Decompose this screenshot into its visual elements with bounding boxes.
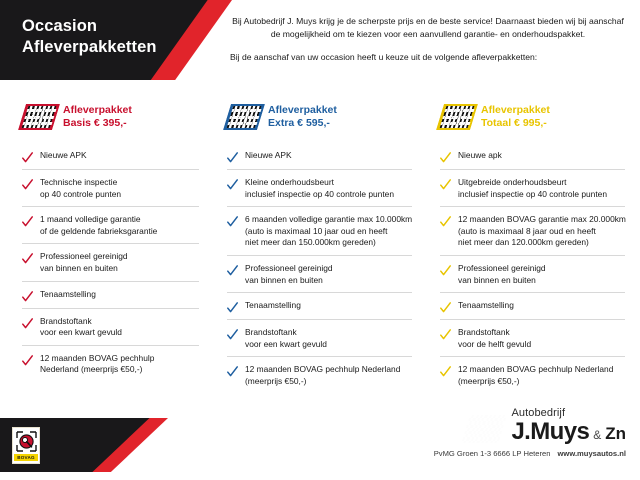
package-title-line1: Afleverpakket: [268, 104, 337, 116]
feature-item: Brandstoftankvoor een kwart gevuld: [227, 319, 412, 356]
feature-text-line: 12 maanden BOVAG garantie max 20.000km: [458, 214, 626, 226]
flag-checker-cells: [440, 106, 475, 128]
package-header-basis: Afleverpakket Basis € 395,-: [22, 100, 199, 134]
feature-item: Nieuwe APK: [22, 150, 199, 169]
package-title-line1: Afleverpakket: [63, 104, 132, 116]
feature-text-line: (auto is maximaal 10 jaar oud en heeft: [245, 226, 412, 238]
package-title-line1: Afleverpakket: [481, 104, 550, 116]
feature-text: Professioneel gereinigdvan binnen en bui…: [245, 263, 333, 286]
bovag-logo: BOVAG: [12, 427, 40, 464]
package-header-totaal: Afleverpakket Totaal € 995,-: [440, 100, 625, 134]
company-wordmark: Autobedrijf J.Muys & Zn: [511, 408, 626, 444]
feature-text: Nieuwe APK: [40, 150, 87, 162]
feature-text-line: van binnen en buiten: [245, 275, 333, 287]
feature-text: Tenaamstelling: [245, 300, 301, 312]
flag-checker-cells: [227, 106, 262, 128]
feature-text-line: Nederland (meerprijs €50,-): [40, 364, 154, 376]
feature-text-line: Brandstoftank: [40, 316, 122, 328]
page-title-line1: Occasion: [22, 16, 157, 37]
checkmark-icon: [227, 178, 238, 190]
feature-item: Kleine onderhoudsbeurtinclusief inspecti…: [227, 169, 412, 206]
feature-text-line: Professioneel gereinigd: [245, 263, 333, 275]
feature-text: Kleine onderhoudsbeurtinclusief inspecti…: [245, 177, 394, 200]
package-card-totaal: Afleverpakket Totaal € 995,- Nieuwe apkU…: [426, 100, 639, 394]
feature-text-line: inclusief inspectie op 40 controle punte…: [458, 189, 607, 201]
feature-text: 12 maanden BOVAG garantie max 20.000km(a…: [458, 214, 626, 249]
checkmark-icon: [227, 215, 238, 227]
company-name: J.Muys: [511, 420, 589, 444]
package-title-line2: Totaal € 995,-: [481, 117, 550, 131]
package-card-basis: Afleverpakket Basis € 395,- Nieuwe APKTe…: [0, 100, 213, 394]
feature-text-line: Kleine onderhoudsbeurt: [245, 177, 394, 189]
feature-text-line: 12 maanden BOVAG pechhulp Nederland: [458, 364, 613, 376]
feature-text: Professioneel gereinigdvan binnen en bui…: [40, 251, 128, 274]
feature-text: Nieuwe APK: [245, 150, 292, 162]
feature-text: Technische inspectieop 40 controle punte…: [40, 177, 121, 200]
checkmark-icon: [22, 178, 33, 190]
checkmark-icon: [227, 301, 238, 313]
feature-text-line: of de geldende fabrieksgarantie: [40, 226, 157, 238]
feature-text: 12 maanden BOVAG pechhulp Nederland(meer…: [245, 364, 400, 387]
feature-text-line: 12 maanden BOVAG pechhulp Nederland: [245, 364, 400, 376]
feature-item: Tenaamstelling: [227, 292, 412, 319]
feature-text-line: van binnen en buiten: [458, 275, 546, 287]
checkmark-icon: [440, 264, 451, 276]
feature-item: 12 maanden BOVAG pechhulp Nederland(meer…: [440, 356, 625, 393]
feature-text-line: op 40 controle punten: [40, 189, 121, 201]
checkmark-icon: [227, 328, 238, 340]
feature-item: 12 maanden BOVAG garantie max 20.000km(a…: [440, 206, 625, 255]
feature-text: Nieuwe apk: [458, 150, 502, 162]
intro-paragraph-1: Bij Autobedrijf J. Muys krijg je de sche…: [228, 15, 628, 40]
intro-paragraph-2: Bij de aanschaf van uw occasion heeft u …: [228, 51, 628, 64]
feature-text-line: Brandstoftank: [245, 327, 327, 339]
feature-text-line: (meerprijs €50,-): [458, 376, 613, 388]
intro-text-block: Bij Autobedrijf J. Muys krijg je de sche…: [228, 15, 628, 64]
checkmark-icon: [22, 215, 33, 227]
feature-item: 1 maand volledige garantieof de geldende…: [22, 206, 199, 243]
feature-text: Brandstoftankvoor de helft gevuld: [458, 327, 531, 350]
feature-item: Tenaamstelling: [440, 292, 625, 319]
feature-text-line: 1 maand volledige garantie: [40, 214, 157, 226]
feature-text: Tenaamstelling: [458, 300, 514, 312]
feature-text-line: voor de helft gevuld: [458, 339, 531, 351]
checkmark-icon: [227, 264, 238, 276]
feature-text: 6 maanden volledige garantie max 10.000k…: [245, 214, 412, 249]
feature-text-line: niet meer dan 120.000km gereden): [458, 237, 626, 249]
feature-text-line: Tenaamstelling: [245, 300, 301, 312]
feature-text-line: Tenaamstelling: [458, 300, 514, 312]
feature-item: Tenaamstelling: [22, 281, 199, 308]
package-title-totaal: Afleverpakket Totaal € 995,-: [481, 104, 550, 131]
feature-text: Tenaamstelling: [40, 289, 96, 301]
feature-text: 12 maanden BOVAG pechhulp Nederland(meer…: [458, 364, 613, 387]
feature-text-line: Nieuwe apk: [458, 150, 502, 162]
feature-text-line: Brandstoftank: [458, 327, 531, 339]
company-ampersand: &: [593, 429, 601, 441]
feature-text-line: inclusief inspectie op 40 controle punte…: [245, 189, 394, 201]
package-title-line2: Extra € 595,-: [268, 117, 337, 131]
flag-checker-cells: [22, 106, 57, 128]
company-logo-row: Autobedrijf J.Muys & Zn: [434, 408, 626, 444]
bovag-wordmark: BOVAG: [14, 454, 38, 461]
feature-list-totaal: Nieuwe apkUitgebreide onderhoudsbeurtinc…: [440, 150, 625, 394]
package-title-line2: Basis € 395,-: [63, 117, 132, 131]
checkered-flag-icon: [436, 104, 478, 130]
feature-item: Nieuwe apk: [440, 150, 625, 169]
package-header-extra: Afleverpakket Extra € 595,-: [227, 100, 412, 134]
checkmark-icon: [440, 151, 451, 163]
company-logo: Autobedrijf J.Muys & Zn PvMG Groen 1-3 6…: [434, 408, 626, 458]
checkmark-icon: [440, 301, 451, 313]
feature-item: Brandstoftankvoor de helft gevuld: [440, 319, 625, 356]
checkmark-icon: [227, 365, 238, 377]
feature-text-line: Nieuwe APK: [245, 150, 292, 162]
checkmark-icon: [22, 354, 33, 366]
feature-text-line: (auto is maximaal 8 jaar oud en heeft: [458, 226, 626, 238]
feature-text-line: van binnen en buiten: [40, 263, 128, 275]
feature-item: Nieuwe APK: [227, 150, 412, 169]
package-title-basis: Afleverpakket Basis € 395,-: [63, 104, 132, 131]
package-columns: Afleverpakket Basis € 395,- Nieuwe APKTe…: [0, 100, 640, 394]
feature-text-line: Tenaamstelling: [40, 289, 96, 301]
feature-item: Brandstoftankvoor een kwart gevuld: [22, 308, 199, 345]
flag-checker-cells: [462, 415, 506, 441]
checkmark-icon: [440, 365, 451, 377]
checkmark-icon: [227, 151, 238, 163]
checkmark-icon: [440, 215, 451, 227]
feature-item: Professioneel gereinigdvan binnen en bui…: [22, 243, 199, 280]
feature-item: 12 maanden BOVAG pechhulpNederland (meer…: [22, 345, 199, 382]
feature-text-line: Technische inspectie: [40, 177, 121, 189]
feature-list-basis: Nieuwe APKTechnische inspectieop 40 cont…: [22, 150, 199, 382]
feature-text-line: (meerprijs €50,-): [245, 376, 400, 388]
feature-item: Professioneel gereinigdvan binnen en bui…: [440, 255, 625, 292]
package-title-extra: Afleverpakket Extra € 595,-: [268, 104, 337, 131]
feature-text-line: 6 maanden volledige garantie max 10.000k…: [245, 214, 412, 226]
company-suffix: Zn: [605, 425, 626, 442]
feature-text-line: niet meer dan 150.000km gereden): [245, 237, 412, 249]
checkmark-icon: [440, 328, 451, 340]
feature-item: Technische inspectieop 40 controle punte…: [22, 169, 199, 206]
feature-item: Professioneel gereinigdvan binnen en bui…: [227, 255, 412, 292]
package-card-extra: Afleverpakket Extra € 595,- Nieuwe APKKl…: [213, 100, 426, 394]
feature-text: Brandstoftankvoor een kwart gevuld: [40, 316, 122, 339]
company-address-line: PvMG Groen 1-3 6666 LP Heterenwww.muysau…: [434, 449, 626, 458]
feature-list-extra: Nieuwe APKKleine onderhoudsbeurtinclusie…: [227, 150, 412, 394]
feature-text-line: 12 maanden BOVAG pechhulp: [40, 353, 154, 365]
company-address: PvMG Groen 1-3 6666 LP Heteren: [434, 449, 551, 458]
checkered-flag-icon: [459, 413, 510, 443]
feature-text-line: Professioneel gereinigd: [458, 263, 546, 275]
checkmark-icon: [22, 317, 33, 329]
feature-item: 6 maanden volledige garantie max 10.000k…: [227, 206, 412, 255]
bovag-mark-icon: [15, 430, 38, 453]
feature-text-line: Uitgebreide onderhoudsbeurt: [458, 177, 607, 189]
page-title-line2: Afleverpakketten: [22, 37, 157, 58]
feature-text-line: voor een kwart gevuld: [40, 327, 122, 339]
checkmark-icon: [22, 252, 33, 264]
checkered-flag-icon: [223, 104, 265, 130]
feature-item: Uitgebreide onderhoudsbeurtinclusief ins…: [440, 169, 625, 206]
checkmark-icon: [440, 178, 451, 190]
feature-text-line: voor een kwart gevuld: [245, 339, 327, 351]
checkered-flag-icon: [18, 104, 60, 130]
checkmark-icon: [22, 151, 33, 163]
checkmark-icon: [22, 290, 33, 302]
feature-text: Professioneel gereinigdvan binnen en bui…: [458, 263, 546, 286]
company-website[interactable]: www.muysautos.nl: [558, 449, 627, 458]
feature-text-line: Professioneel gereinigd: [40, 251, 128, 263]
feature-item: 12 maanden BOVAG pechhulp Nederland(meer…: [227, 356, 412, 393]
feature-text: 1 maand volledige garantieof de geldende…: [40, 214, 157, 237]
feature-text-line: Nieuwe APK: [40, 150, 87, 162]
feature-text: Uitgebreide onderhoudsbeurtinclusief ins…: [458, 177, 607, 200]
feature-text: Brandstoftankvoor een kwart gevuld: [245, 327, 327, 350]
page-title: Occasion Afleverpakketten: [22, 16, 157, 58]
company-name-row: J.Muys & Zn: [511, 420, 626, 444]
feature-text: 12 maanden BOVAG pechhulpNederland (meer…: [40, 353, 154, 376]
